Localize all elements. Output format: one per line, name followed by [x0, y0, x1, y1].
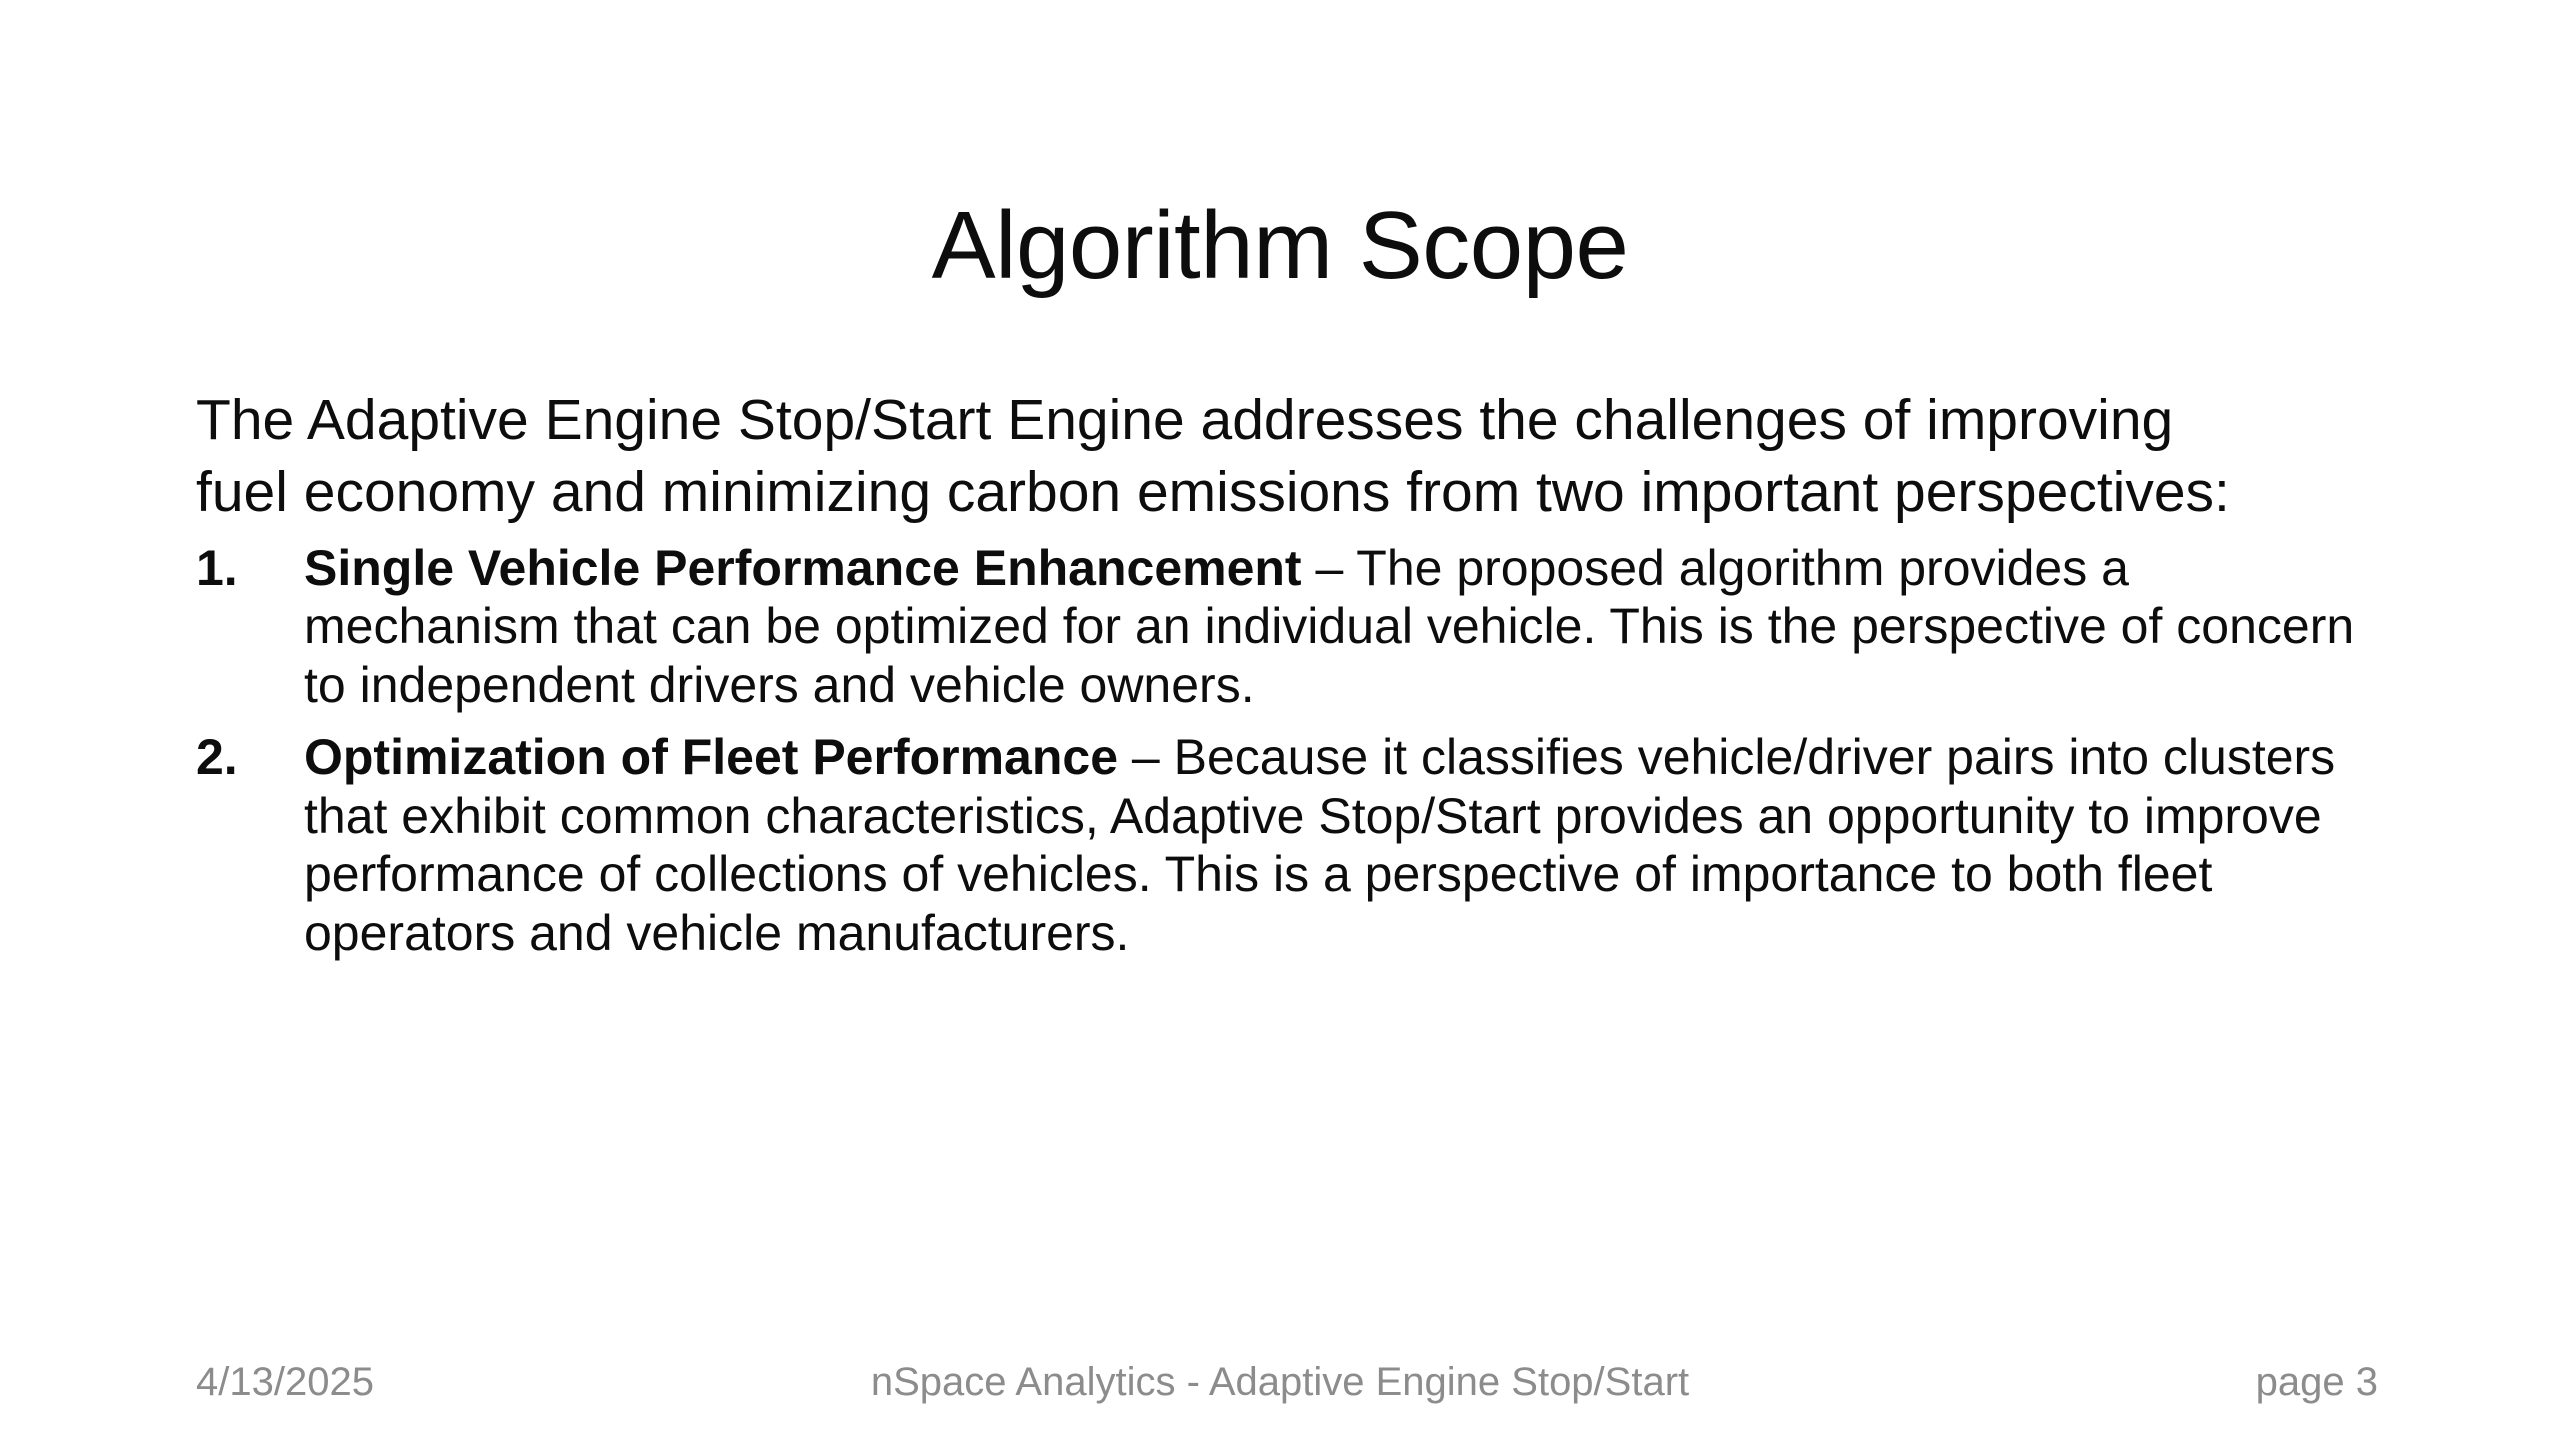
page-title: Algorithm Scope [0, 196, 2560, 297]
slide-footer: 4/13/2025 nSpace Analytics - Adaptive En… [0, 1352, 2560, 1412]
footer-title: nSpace Analytics - Adaptive Engine Stop/… [0, 1352, 2560, 1412]
slide: Algorithm Scope The Adaptive Engine Stop… [0, 0, 2560, 1440]
list-item-number: 2. [196, 728, 268, 787]
list-item: 1. Single Vehicle Performance Enhancemen… [196, 539, 2376, 715]
footer-page-number: page 3 [2256, 1352, 2378, 1412]
list-item: 2. Optimization of Fleet Performance – B… [196, 728, 2376, 962]
intro-paragraph: The Adaptive Engine Stop/Start Engine ad… [196, 385, 2256, 529]
list-item-lead: Single Vehicle Performance Enhancement [304, 540, 1302, 596]
list-item-lead: Optimization of Fleet Performance [304, 729, 1118, 785]
numbered-list: 1. Single Vehicle Performance Enhancemen… [196, 539, 2376, 963]
list-item-number: 1. [196, 539, 268, 598]
slide-body: The Adaptive Engine Stop/Start Engine ad… [196, 385, 2376, 962]
